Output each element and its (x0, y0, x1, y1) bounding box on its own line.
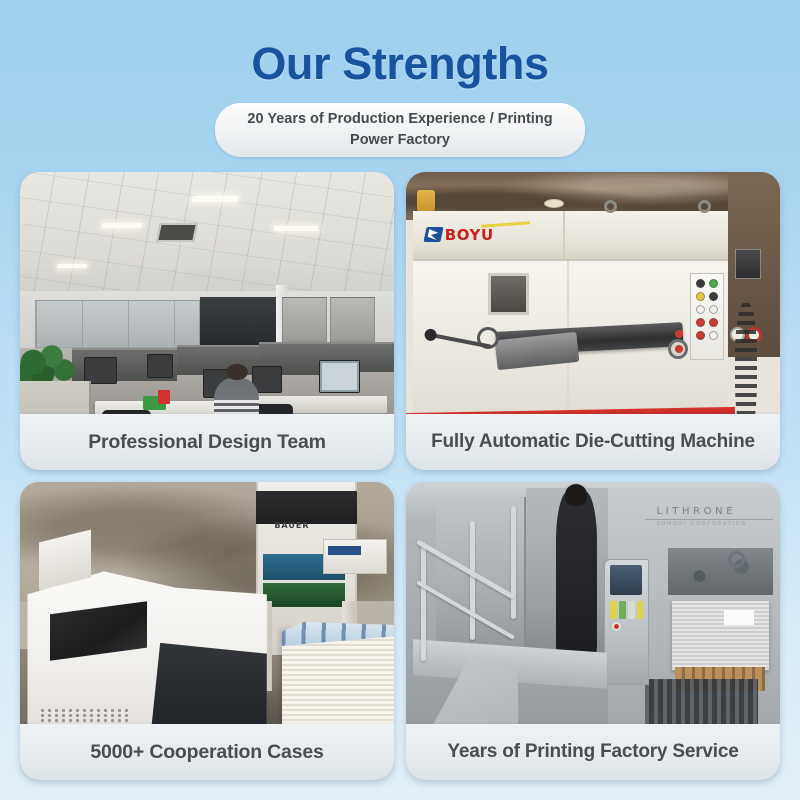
panel-seam (563, 211, 565, 262)
press-brand-label: LITHRONE (657, 506, 737, 517)
hand-wheel-icon (728, 551, 745, 568)
handrail-post (421, 542, 426, 661)
ceiling-lamp (102, 223, 143, 228)
ceiling-lamp (57, 264, 88, 268)
card-caption: Fully Automatic Die-Cutting Machine (406, 414, 780, 470)
press-subbrand-label: KOMORI CORPORATION (657, 521, 748, 527)
page-header: Our Strengths 20 Years of Production Exp… (20, 0, 780, 157)
machine-lower-panel (151, 643, 267, 732)
handrail-post (470, 521, 475, 640)
console-screen (610, 565, 642, 595)
press-control-box (323, 539, 387, 575)
monitor (147, 354, 173, 378)
monitor (319, 360, 360, 393)
oil-bottle (417, 190, 435, 212)
ceiling-lamp (274, 226, 319, 231)
lifting-eye-icon (698, 200, 711, 213)
machine-rollers (155, 571, 245, 592)
card-caption: Years of Printing Factory Service (406, 724, 780, 780)
monitor (84, 357, 118, 384)
press-roller-green (263, 583, 345, 607)
container-lid (544, 199, 564, 208)
press-mechanism (668, 548, 773, 596)
press-operator (556, 491, 597, 658)
strength-card-printing-service[interactable]: LITHRONE KOMORI CORPORATION (406, 482, 780, 780)
inspection-window (488, 273, 529, 315)
brand-label: BOYU (445, 226, 494, 244)
paper-label (724, 610, 754, 625)
boyu-mark-icon (423, 227, 443, 242)
paper-stack (672, 601, 769, 670)
strength-card-die-cutting[interactable]: BOYU (406, 172, 780, 470)
press-brand-label: BAUER (274, 521, 309, 530)
strengths-grid: Professional Design Team BOYU (20, 172, 780, 780)
control-panel[interactable] (690, 273, 724, 359)
electrical-box (735, 249, 761, 279)
press-top-frame (256, 491, 357, 524)
page-title: Our Strengths (20, 38, 780, 90)
console-buttons[interactable] (610, 601, 644, 619)
ceiling-vent (156, 223, 198, 242)
card-caption: 5000+ Cooperation Cases (20, 724, 394, 780)
machine-brand-logo: BOYU (425, 226, 494, 244)
strengths-page: Our Strengths 20 Years of Production Exp… (0, 0, 800, 800)
subtitle-pill: 20 Years of Production Experience / Prin… (215, 103, 585, 157)
handrail-post (511, 506, 516, 619)
ceiling-lamp (191, 196, 239, 202)
subtitle-container: 20 Years of Production Experience / Prin… (20, 103, 780, 157)
desk-cup (158, 390, 169, 405)
ceiling-tiles (20, 172, 394, 303)
strength-card-design-team[interactable]: Professional Design Team (20, 172, 394, 470)
emergency-stop-button[interactable] (612, 622, 621, 631)
strength-card-cooperation-cases[interactable]: BAUER 5000+ Cooperation (20, 482, 394, 780)
card-caption: Professional Design Team (20, 414, 394, 470)
glass-partition (35, 300, 200, 348)
